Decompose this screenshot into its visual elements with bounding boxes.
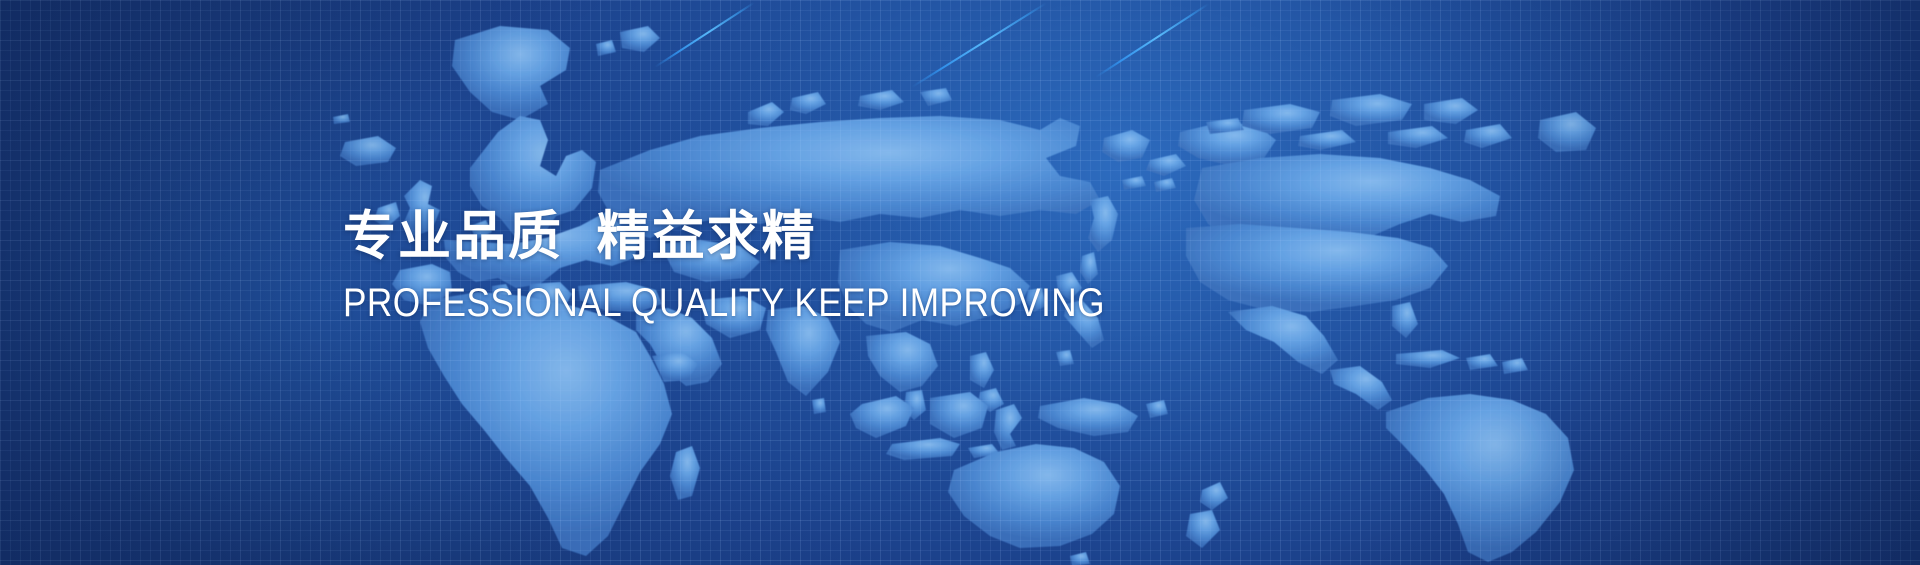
banner-copy: 专业品质 精益求精 PROFESSIONAL QUALITY KEEP IMPR… <box>343 206 1443 325</box>
light-streak-1 <box>654 2 754 68</box>
light-streak-3 <box>1095 3 1208 78</box>
hero-banner: 专业品质 精益求精 PROFESSIONAL QUALITY KEEP IMPR… <box>0 0 1920 565</box>
headline-chinese: 专业品质 精益求精 <box>343 206 1443 267</box>
light-streak-2 <box>911 2 1046 87</box>
headline-english: PROFESSIONAL QUALITY KEEP IMPROVING <box>343 281 1311 325</box>
